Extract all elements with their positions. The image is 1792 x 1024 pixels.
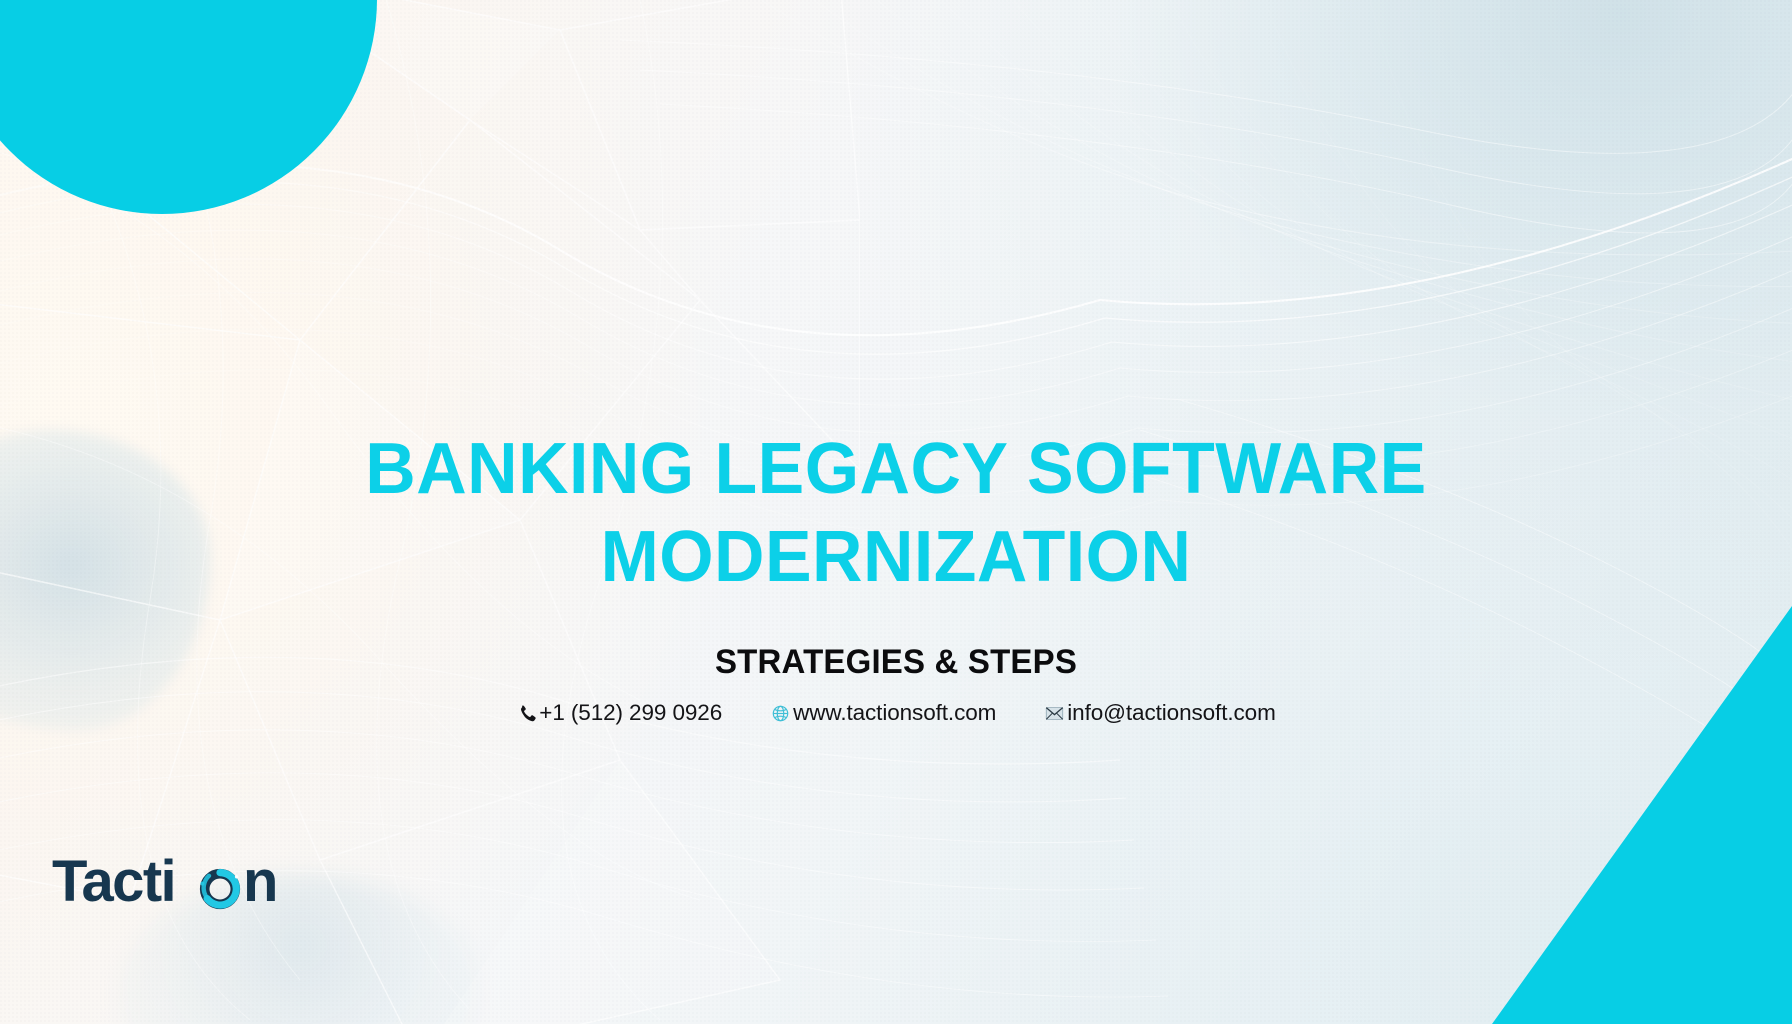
contact-item-email[interactable]: info@tactionsoft.com — [1044, 700, 1275, 726]
page-subtitle: STRATEGIES & STEPS — [27, 642, 1765, 682]
contact-phone-label: +1 (512) 299 0926 — [539, 700, 722, 726]
company-logo[interactable]: Tacti n Taction — [52, 854, 284, 916]
envelope-icon — [1044, 703, 1065, 724]
contact-item-phone[interactable]: +1 (512) 299 0926 — [516, 700, 722, 726]
page-title-line-1: BANKING LEGACY SOFTWARE — [27, 425, 1765, 513]
globe-icon — [770, 703, 791, 724]
contact-email-label: info@tactionsoft.com — [1067, 700, 1275, 726]
logo-wordmark-before-ring: Tacti — [52, 854, 175, 914]
banner-content: BANKING LEGACY SOFTWARE MODERNIZATION ST… — [0, 0, 1792, 1024]
phone-icon — [516, 703, 537, 724]
brush-ring-icon — [200, 873, 238, 907]
title-banner: BANKING LEGACY SOFTWARE MODERNIZATION ST… — [0, 0, 1792, 1024]
contact-info-row: +1 (512) 299 0926 www.tactionsoft.co — [0, 700, 1792, 726]
page-title-line-2: MODERNIZATION — [27, 513, 1765, 601]
page-title: BANKING LEGACY SOFTWARE MODERNIZATION — [27, 425, 1765, 601]
contact-item-website[interactable]: www.tactionsoft.com — [770, 700, 996, 726]
logo-wordmark-after-ring: n — [243, 854, 277, 914]
contact-website-label: www.tactionsoft.com — [793, 700, 996, 726]
